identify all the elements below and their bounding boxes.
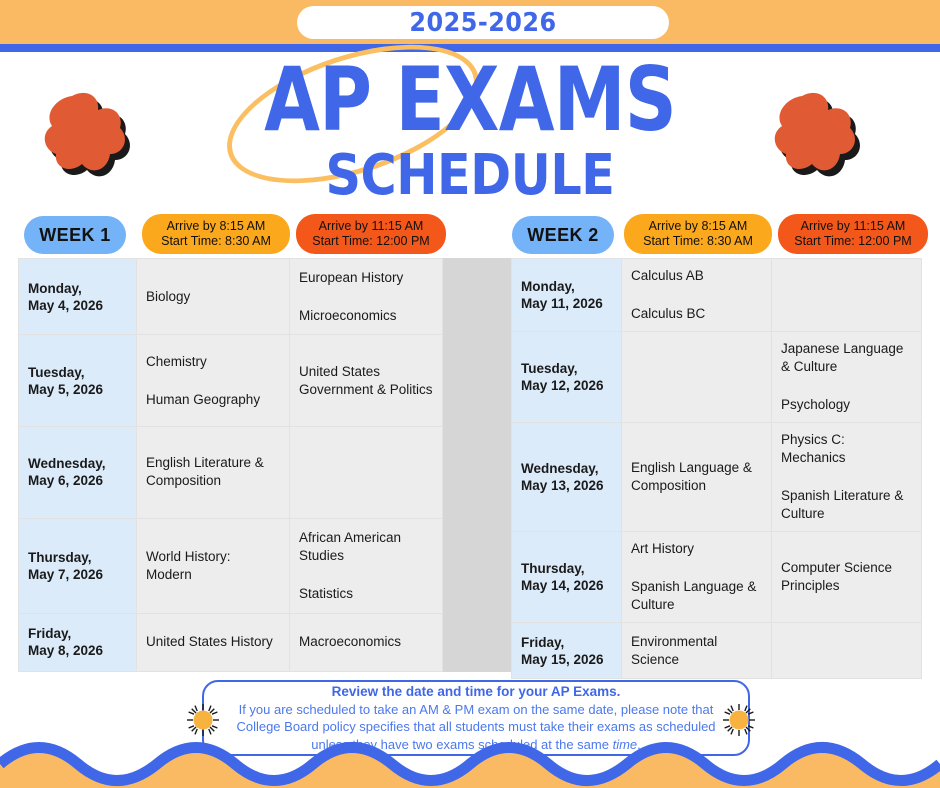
wave-decoration bbox=[0, 740, 940, 788]
morning-exam-cell: Art HistorySpanish Language & Culture bbox=[622, 532, 772, 623]
exam-name: African American Studies bbox=[299, 529, 433, 565]
exam-name: Computer Science Principles bbox=[781, 559, 912, 595]
exam-date-cell: Thursday,May 7, 2026 bbox=[19, 518, 137, 613]
exam-name: United States Government & Politics bbox=[299, 363, 433, 399]
schedule-row: Tuesday,May 5, 2026ChemistryHuman Geogra… bbox=[19, 335, 443, 427]
exam-name: Art History bbox=[631, 540, 762, 558]
exam-date-cell: Friday,May 8, 2026 bbox=[19, 613, 137, 671]
schedule-row: Wednesday,May 6, 2026English Literature … bbox=[19, 426, 443, 518]
morning-exam-cell: ChemistryHuman Geography bbox=[137, 335, 290, 427]
school-year-pill: 2025-2026 bbox=[297, 6, 669, 39]
exam-name: Macroeconomics bbox=[299, 633, 433, 651]
schedule-row: Thursday,May 14, 2026Art HistorySpanish … bbox=[512, 532, 922, 623]
exam-name: United States History bbox=[146, 633, 280, 651]
exam-date-value: May 15, 2026 bbox=[521, 651, 612, 668]
exam-name: European History bbox=[299, 269, 433, 287]
exam-day-name: Wednesday, bbox=[28, 455, 127, 472]
exam-date-value: May 11, 2026 bbox=[521, 295, 612, 312]
morning-exam-cell: English Language & Composition bbox=[622, 423, 772, 532]
exam-name: Human Geography bbox=[146, 391, 280, 409]
exam-day-name: Friday, bbox=[521, 634, 612, 651]
exam-date-value: May 5, 2026 bbox=[28, 381, 127, 398]
schedule-row: Monday,May 11, 2026Calculus ABCalculus B… bbox=[512, 259, 922, 332]
morning-exam-cell: Environmental Science bbox=[622, 623, 772, 679]
exam-date-value: May 7, 2026 bbox=[28, 566, 127, 583]
exam-name: Spanish Literature & Culture bbox=[781, 487, 912, 523]
exam-name: Environmental Science bbox=[631, 633, 762, 669]
afternoon-exam-cell bbox=[772, 623, 922, 679]
morning-exam-cell: United States History bbox=[137, 613, 290, 671]
week-1-am-arrive: Arrive by 8:15 AM bbox=[167, 219, 266, 234]
afternoon-exam-cell: Japanese Language & CulturePsychology bbox=[772, 332, 922, 423]
week-2-label: WEEK 2 bbox=[527, 225, 598, 246]
week-divider bbox=[443, 258, 511, 672]
exam-date-value: May 13, 2026 bbox=[521, 477, 612, 494]
policy-note-heading: Review the date and time for your AP Exa… bbox=[332, 683, 621, 701]
exam-date-value: May 8, 2026 bbox=[28, 642, 127, 659]
schedule-row: Thursday,May 7, 2026World History: Moder… bbox=[19, 518, 443, 613]
week-2-am-arrive: Arrive by 8:15 AM bbox=[649, 219, 748, 234]
page-subtitle: SCHEDULE bbox=[56, 148, 883, 204]
exam-name: Physics C: Mechanics bbox=[781, 431, 912, 467]
morning-exam-cell bbox=[622, 332, 772, 423]
morning-exam-cell: Biology bbox=[137, 259, 290, 335]
schedule-row: Monday,May 4, 2026BiologyEuropean Histor… bbox=[19, 259, 443, 335]
exam-day-name: Friday, bbox=[28, 625, 127, 642]
week-2-pm-arrive: Arrive by 11:15 AM bbox=[801, 219, 906, 234]
week-1-pm-arrive: Arrive by 11:15 AM bbox=[319, 219, 424, 234]
exam-name: Statistics bbox=[299, 585, 433, 603]
week-1-am-start: Start Time: 8:30 AM bbox=[161, 234, 271, 249]
exam-name: English Literature & Composition bbox=[146, 454, 280, 490]
afternoon-exam-cell: African American StudiesStatistics bbox=[290, 518, 443, 613]
exam-date-cell: Friday,May 15, 2026 bbox=[512, 623, 622, 679]
afternoon-exam-cell: European HistoryMicroeconomics bbox=[290, 259, 443, 335]
exam-name: Spanish Language & Culture bbox=[631, 578, 762, 614]
exam-date-cell: Wednesday,May 6, 2026 bbox=[19, 426, 137, 518]
exam-date-cell: Tuesday,May 12, 2026 bbox=[512, 332, 622, 423]
exam-date-cell: Tuesday,May 5, 2026 bbox=[19, 335, 137, 427]
exam-date-value: May 6, 2026 bbox=[28, 472, 127, 489]
flower-icon bbox=[42, 92, 134, 180]
week-1-pm-start: Start Time: 12:00 PM bbox=[312, 234, 429, 249]
week-2-am-header: Arrive by 8:15 AM Start Time: 8:30 AM bbox=[624, 214, 772, 254]
week-2-body: Monday,May 11, 2026Calculus ABCalculus B… bbox=[512, 259, 922, 679]
afternoon-exam-cell: Physics C: MechanicsSpanish Literature &… bbox=[772, 423, 922, 532]
exam-name: Japanese Language & Culture bbox=[781, 340, 912, 376]
exam-name: Calculus AB bbox=[631, 267, 762, 285]
week-1-body: Monday,May 4, 2026BiologyEuropean Histor… bbox=[19, 259, 443, 672]
school-year-label: 2025-2026 bbox=[409, 8, 556, 38]
exam-date-cell: Monday,May 11, 2026 bbox=[512, 259, 622, 332]
schedule-row: Friday,May 15, 2026Environmental Science bbox=[512, 623, 922, 679]
exam-day-name: Tuesday, bbox=[28, 364, 127, 381]
sun-icon bbox=[186, 703, 220, 737]
morning-exam-cell: World History: Modern bbox=[137, 518, 290, 613]
sun-icon bbox=[722, 703, 756, 737]
afternoon-exam-cell: United States Government & Politics bbox=[290, 335, 443, 427]
schedule-row: Friday,May 8, 2026United States HistoryM… bbox=[19, 613, 443, 671]
week-1-pm-header: Arrive by 11:15 AM Start Time: 12:00 PM bbox=[296, 214, 446, 254]
morning-exam-cell: English Literature & Composition bbox=[137, 426, 290, 518]
week-1-badge: WEEK 1 bbox=[24, 216, 126, 254]
exam-name: Calculus BC bbox=[631, 305, 762, 323]
week-1-am-header: Arrive by 8:15 AM Start Time: 8:30 AM bbox=[142, 214, 290, 254]
schedule-row: Wednesday,May 13, 2026English Language &… bbox=[512, 423, 922, 532]
exam-date-value: May 4, 2026 bbox=[28, 297, 127, 314]
exam-date-cell: Thursday,May 14, 2026 bbox=[512, 532, 622, 623]
exam-day-name: Monday, bbox=[521, 278, 612, 295]
morning-exam-cell: Calculus ABCalculus BC bbox=[622, 259, 772, 332]
exam-date-value: May 12, 2026 bbox=[521, 377, 612, 394]
ap-exams-schedule-poster: 2025-2026 AP EXAMS SCHEDULE WEEK 1 Arriv… bbox=[0, 0, 940, 788]
exam-day-name: Monday, bbox=[28, 280, 127, 297]
afternoon-exam-cell: Computer Science Principles bbox=[772, 532, 922, 623]
week-2-am-start: Start Time: 8:30 AM bbox=[643, 234, 753, 249]
exam-date-cell: Monday,May 4, 2026 bbox=[19, 259, 137, 335]
week-2-badge: WEEK 2 bbox=[512, 216, 614, 254]
afternoon-exam-cell: Macroeconomics bbox=[290, 613, 443, 671]
exam-name: Microeconomics bbox=[299, 307, 433, 325]
flower-icon bbox=[772, 92, 864, 180]
exam-name: Chemistry bbox=[146, 353, 280, 371]
page-title: AP EXAMS bbox=[85, 57, 856, 143]
exam-day-name: Thursday, bbox=[521, 560, 612, 577]
schedule-grid: Monday,May 4, 2026BiologyEuropean Histor… bbox=[18, 258, 922, 672]
week-2-table: Monday,May 11, 2026Calculus ABCalculus B… bbox=[511, 258, 922, 679]
week-1-label: WEEK 1 bbox=[39, 225, 110, 246]
exam-name: Psychology bbox=[781, 396, 912, 414]
exam-date-value: May 14, 2026 bbox=[521, 577, 612, 594]
week-1-table: Monday,May 4, 2026BiologyEuropean Histor… bbox=[18, 258, 443, 672]
exam-name: Biology bbox=[146, 288, 280, 306]
schedule-row: Tuesday,May 12, 2026Japanese Language & … bbox=[512, 332, 922, 423]
week-2-pm-start: Start Time: 12:00 PM bbox=[794, 234, 911, 249]
exam-name: English Language & Composition bbox=[631, 459, 762, 495]
week-2-pm-header: Arrive by 11:15 AM Start Time: 12:00 PM bbox=[778, 214, 928, 254]
exam-day-name: Thursday, bbox=[28, 549, 127, 566]
afternoon-exam-cell bbox=[772, 259, 922, 332]
exam-day-name: Wednesday, bbox=[521, 460, 612, 477]
exam-date-cell: Wednesday,May 13, 2026 bbox=[512, 423, 622, 532]
exam-name: World History: Modern bbox=[146, 548, 280, 584]
afternoon-exam-cell bbox=[290, 426, 443, 518]
exam-day-name: Tuesday, bbox=[521, 360, 612, 377]
